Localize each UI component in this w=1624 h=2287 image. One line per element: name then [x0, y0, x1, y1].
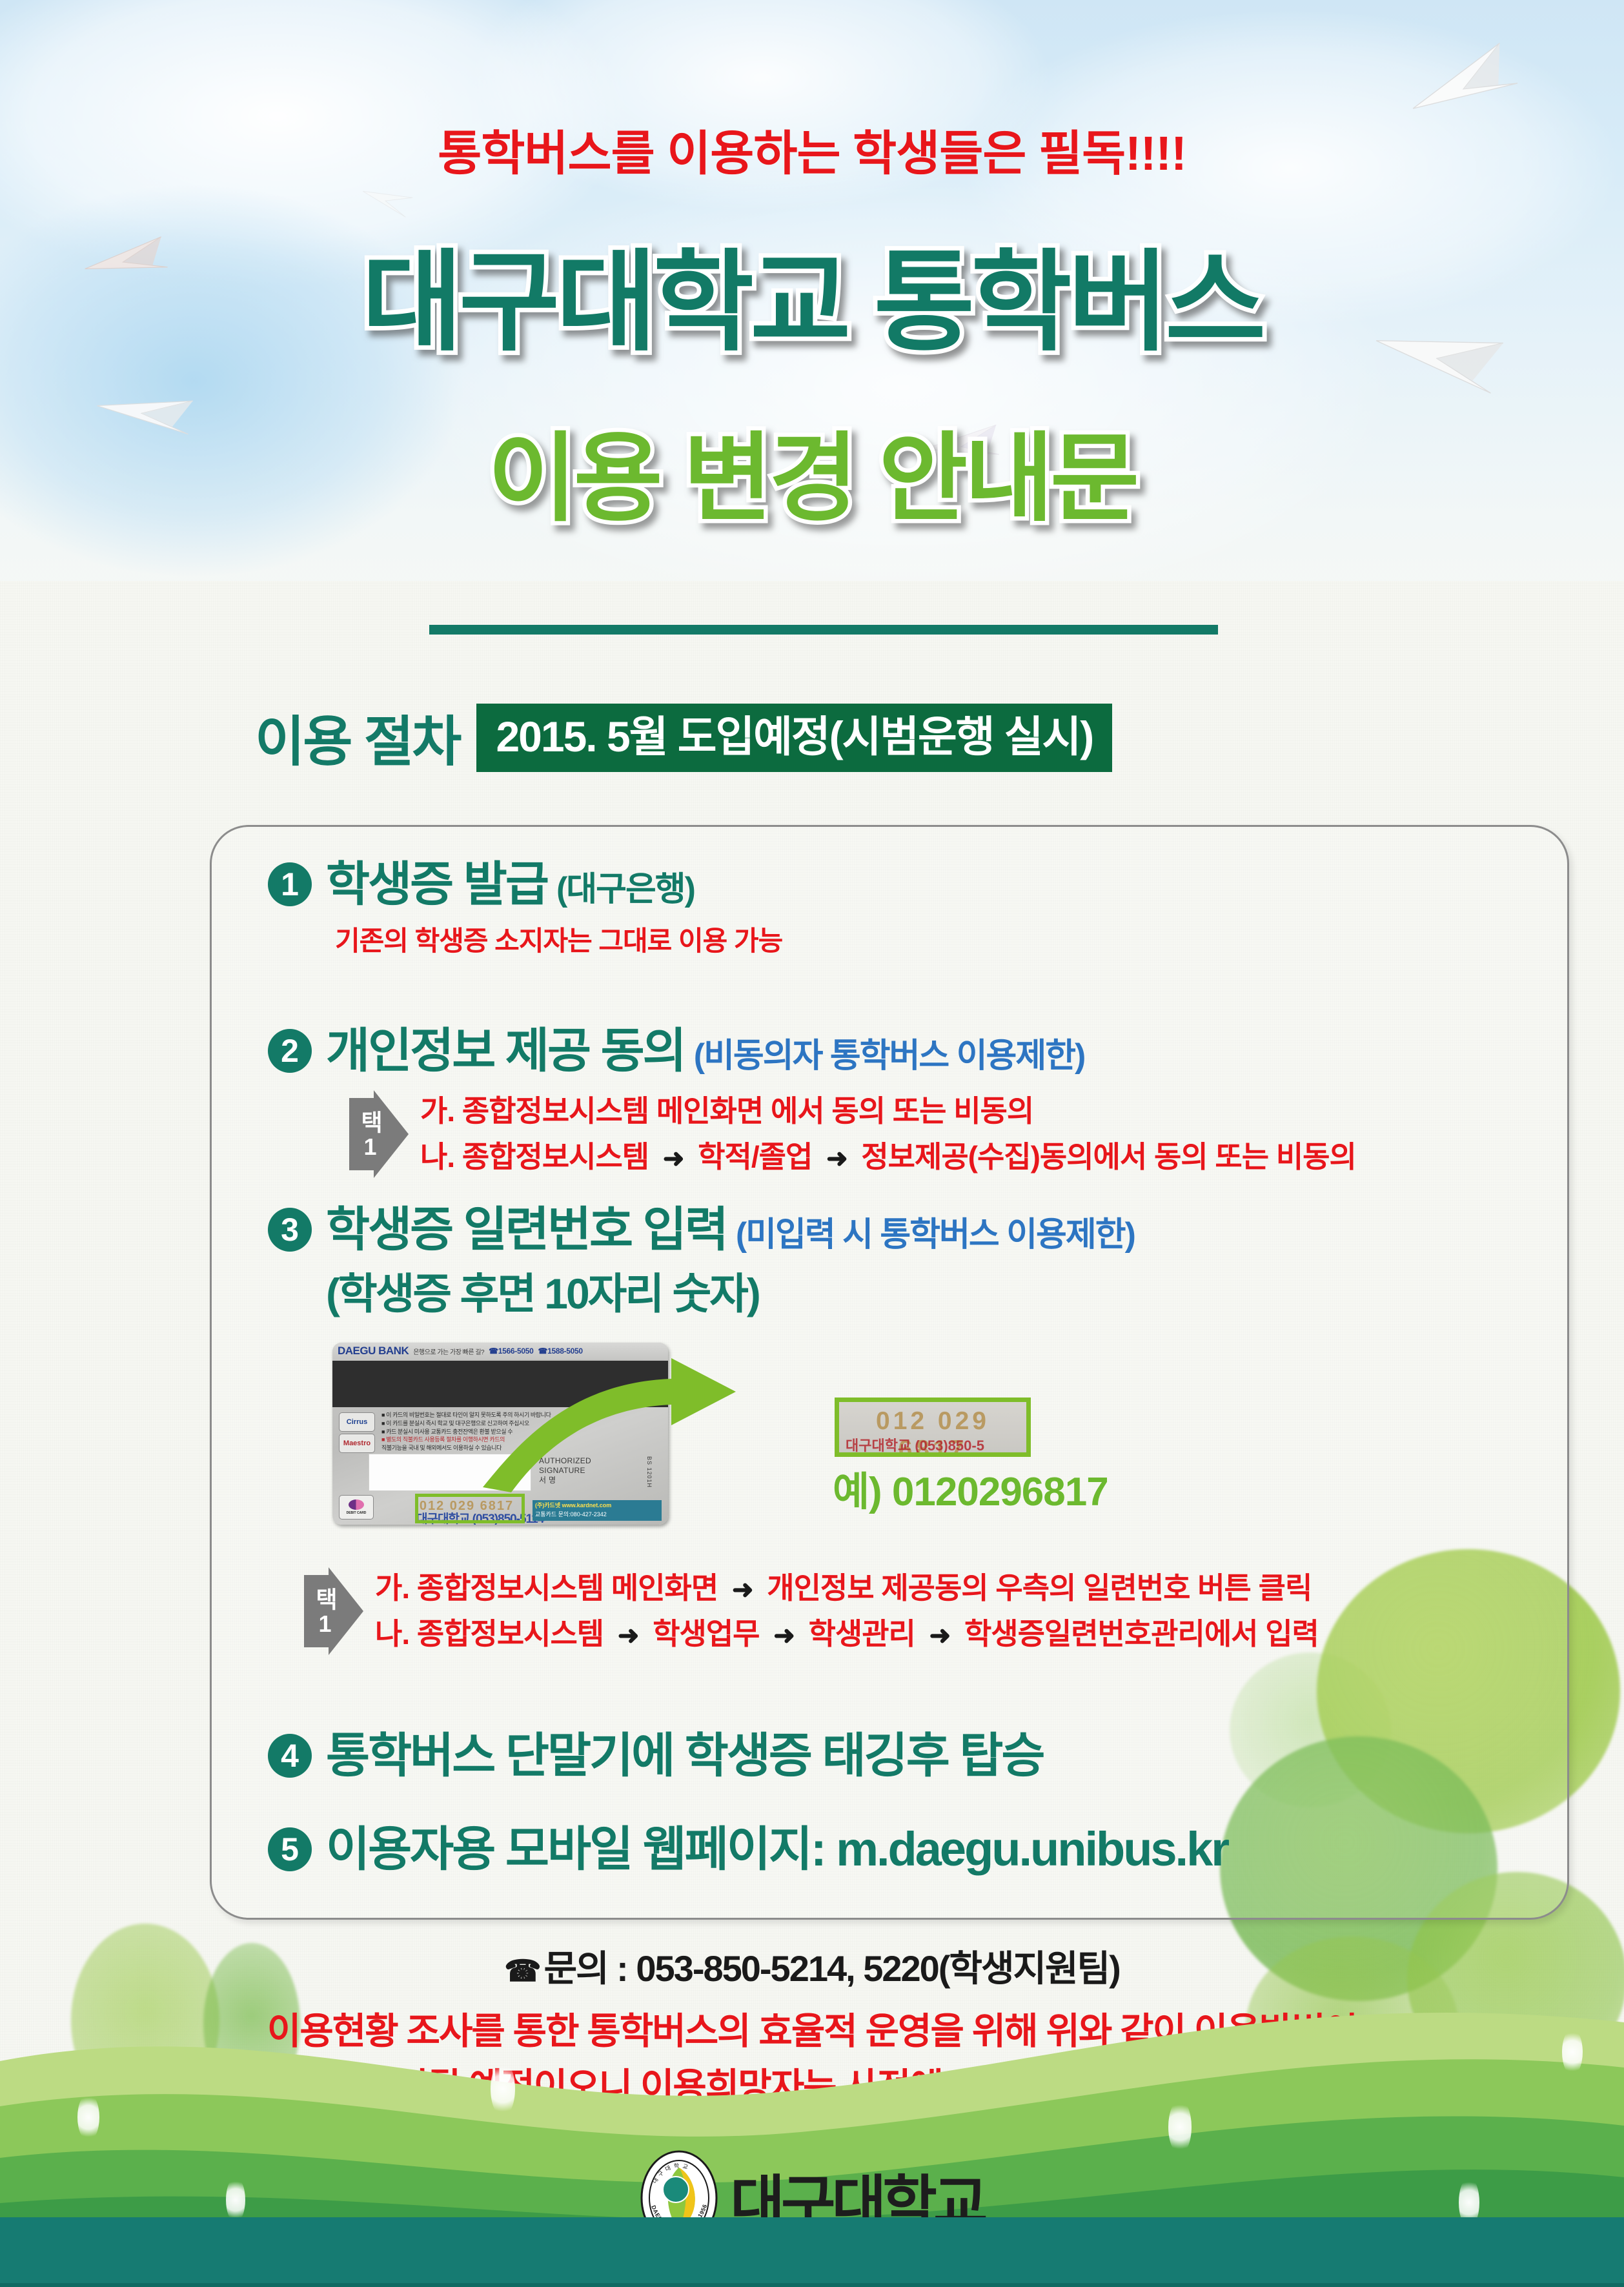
- poster-root: 통학버스를 이용하는 학생들은 필독!!!! 대구대학교 통학버스 이용 변경 …: [0, 0, 1624, 2287]
- option-part: 정보제공(수집)동의에서 동의 또는 비동의: [861, 1140, 1355, 1174]
- step-2-option-a: 가. 종합정보시스템 메인화면 에서 동의 또는 비동의: [420, 1088, 1356, 1134]
- option-part: 학적/졸업: [698, 1140, 812, 1174]
- poster-title-line2: 이용 변경 안내문: [0, 400, 1624, 540]
- step-3-title-line2: (학생증 후면 10자리 숫자): [326, 1259, 1135, 1321]
- maestro-logo-icon: Maestro: [339, 1434, 375, 1453]
- arrow-glyph: ➜: [923, 1621, 957, 1650]
- poster-title-line1: 대구대학교 통학버스: [0, 213, 1624, 372]
- serial-example-text: 예) 0120296817: [833, 1459, 1108, 1517]
- step-4-title: 통학버스 단말기에 학생증 태깅후 탑승: [326, 1730, 1044, 1782]
- pick-label-top: 택: [308, 1587, 341, 1609]
- step-3: 3 학생증 일련번호 입력 (미입력 시 통학버스 이용제한) (학생증 후면 …: [268, 1204, 1135, 1321]
- option-part: 개인정보 제공동의 우측의 일련번호 버튼 클릭: [767, 1571, 1312, 1605]
- step-1-title: 학생증 발급: [326, 859, 547, 910]
- pick-label-bottom: 1: [356, 1133, 383, 1159]
- step-4-title-row: 통학버스 단말기에 학생증 태깅후 탑승: [326, 1730, 1044, 1782]
- pick-one-arrow-icon: 택1: [339, 1090, 409, 1178]
- arrow-glyph: ➜: [656, 1144, 691, 1173]
- step-number-badge: 5: [268, 1827, 312, 1871]
- step-3-paren: (미입력 시 통학버스 이용제한): [736, 1217, 1135, 1253]
- step-2-title: 개인정보 제공 동의: [326, 1025, 685, 1077]
- step-1-title-row: 학생증 발급 (대구은행): [326, 859, 782, 910]
- option-prefix: 가.: [420, 1094, 454, 1128]
- card-slogan: 은행으로 가는 가장 빠른 길?: [413, 1347, 484, 1356]
- step-3-option-a: 가. 종합정보시스템 메인화면 ➜ 개인정보 제공동의 우측의 일련번호 버튼 …: [375, 1565, 1319, 1611]
- step-2: 2 개인정보 제공 동의 (비동의자 통학버스 이용제한) 택1 가. 종합정보…: [268, 1025, 1356, 1181]
- step-3-option-b: 나. 종합정보시스템 ➜ 학생업무 ➜ 학생관리 ➜ 학생증일련번호관리에서 입…: [375, 1611, 1319, 1657]
- pick-one-arrow-icon: 택1: [294, 1567, 363, 1655]
- step-1: 1 학생증 발급 (대구은행) 기존의 학생증 소지자는 그대로 이용 가능: [268, 859, 782, 959]
- arrow-glyph: ➜: [611, 1621, 645, 1650]
- option-part: 학생증일련번호관리에서 입력: [964, 1617, 1319, 1651]
- kardnet-line-2: 교통카드 문의:080-427-2342: [535, 1510, 659, 1520]
- pick-label-bottom: 1: [311, 1611, 338, 1636]
- option-prefix: 가.: [375, 1571, 409, 1605]
- section-label: 이용 절차: [255, 698, 460, 777]
- card-bank-brand: DAEGU BANK: [338, 1345, 409, 1357]
- option-part: 학생업무: [653, 1617, 759, 1651]
- green-curved-arrow-icon: [478, 1349, 749, 1498]
- card-kardnet-box: (주)카드넷 www.kardnet.com 교통카드 문의:080-427-2…: [533, 1500, 662, 1521]
- step-number-badge: 3: [268, 1208, 312, 1252]
- sparkle-dot: [1168, 2100, 1192, 2154]
- debit-label: DEBIT CARD: [347, 1511, 367, 1515]
- sparkle-dot: [77, 2093, 99, 2141]
- kardnet-line-1: (주)카드넷 www.kardnet.com: [535, 1501, 659, 1510]
- option-prefix: 나.: [375, 1617, 409, 1651]
- step-2-option-b: 나. 종합정보시스템 ➜ 학적/졸업 ➜ 정보제공(수집)동의에서 동의 또는 …: [420, 1134, 1356, 1180]
- step-3-pick-group: 택1 가. 종합정보시스템 메인화면 ➜ 개인정보 제공동의 우측의 일련번호 …: [294, 1565, 1319, 1658]
- serial-callout-crop: 012 029 6817 대구대학교 (053)850-5: [835, 1398, 1031, 1457]
- cirrus-logo-icon: Cirrus: [339, 1412, 375, 1432]
- step-number-badge: 1: [268, 862, 312, 906]
- debit-card-logo-icon: DEBIT CARD: [339, 1495, 374, 1520]
- step-5-title: 이용자용 모바일 웹페이지: m.daegu.unibus.kr: [326, 1824, 1228, 1875]
- step-1-subtext: 기존의 학생증 소지자는 그대로 이용 가능: [335, 919, 782, 959]
- step-3-pick: 택1 가. 종합정보시스템 메인화면 ➜ 개인정보 제공동의 우측의 일련번호 …: [281, 1565, 1319, 1658]
- step-3-title-row: 학생증 일련번호 입력 (미입력 시 통학버스 이용제한): [326, 1204, 1135, 1255]
- arrow-glyph: ➜: [726, 1576, 760, 1604]
- section-badge: 2015. 5월 도입예정(시범운행 실시): [476, 704, 1112, 772]
- step-number-badge: 4: [268, 1734, 312, 1778]
- step-number-badge: 2: [268, 1029, 312, 1073]
- step-2-paren: (비동의자 통학버스 이용제한): [694, 1038, 1085, 1074]
- sparkle-dot: [491, 2061, 515, 2117]
- step-5-title-row: 이용자용 모바일 웹페이지: m.daegu.unibus.kr: [326, 1824, 1228, 1875]
- option-part: 종합정보시스템 메인화면: [417, 1571, 718, 1605]
- title-divider: [429, 625, 1218, 635]
- option-prefix: 나.: [420, 1140, 454, 1174]
- step-4: 4 통학버스 단말기에 학생증 태깅후 탑승: [268, 1730, 1044, 1782]
- step-5: 5 이용자용 모바일 웹페이지: m.daegu.unibus.kr: [268, 1824, 1228, 1875]
- arrow-glyph: ➜: [820, 1144, 854, 1173]
- option-part: 학생관리: [809, 1617, 915, 1651]
- section-header: 이용 절차 2015. 5월 도입예정(시범운행 실시): [255, 698, 1112, 777]
- option-part: 종합정보시스템: [462, 1140, 649, 1174]
- arrow-glyph: ➜: [767, 1621, 801, 1650]
- bottom-teal-bar: [0, 2217, 1624, 2287]
- option-part: 종합정보시스템 메인화면 에서 동의 또는 비동의: [462, 1094, 1033, 1128]
- serial-highlight-box: [415, 1494, 525, 1523]
- card-network-logos: Cirrus Maestro: [339, 1412, 375, 1453]
- step-2-title-row: 개인정보 제공 동의 (비동의자 통학버스 이용제한): [326, 1025, 1356, 1077]
- option-part: 종합정보시스템: [417, 1617, 604, 1651]
- sparkle-dot: [1562, 2029, 1583, 2075]
- callout-serial-subtext: 대구대학교 (053)850-5: [846, 1434, 984, 1455]
- step-3-title: 학생증 일련번호 입력: [326, 1204, 727, 1255]
- kicker-text: 통학버스를 이용하는 학생들은 필독!!!!: [0, 115, 1624, 184]
- step-2-pick-group: 택1 가. 종합정보시스템 메인화면 에서 동의 또는 비동의 나. 종합정보시…: [339, 1088, 1356, 1181]
- step-1-paren: (대구은행): [556, 871, 695, 908]
- pick-label-top: 택: [353, 1110, 387, 1132]
